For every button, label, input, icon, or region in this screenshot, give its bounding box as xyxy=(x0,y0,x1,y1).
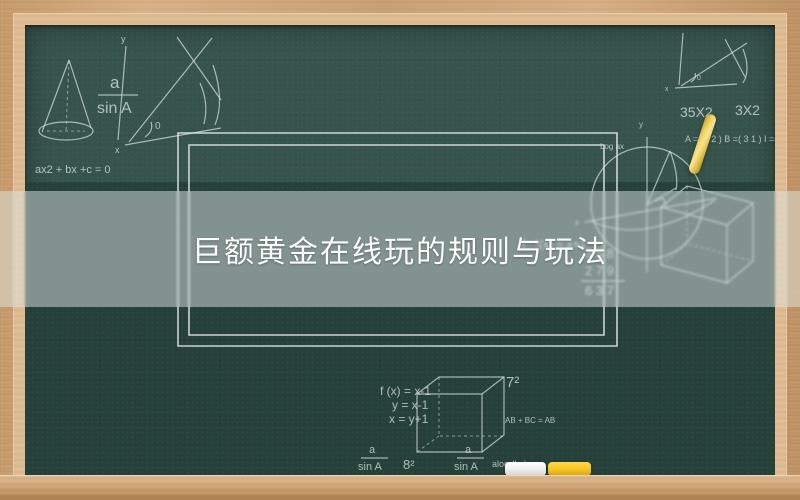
chalk-eight-squared: 8² xyxy=(403,457,415,472)
svg-text:sin A: sin A xyxy=(358,461,383,473)
svg-text:0: 0 xyxy=(697,75,701,82)
chalk-ledge xyxy=(0,475,800,500)
svg-text:y: y xyxy=(639,120,643,129)
svg-text:a: a xyxy=(369,444,376,456)
chalk-a-over-sinA-bottom-1: a sin A xyxy=(358,444,388,473)
svg-text:a: a xyxy=(465,444,472,456)
chalk-a-over-sinA-bottom-2: a sin A xyxy=(454,444,484,473)
title-banner: 巨额黄金在线玩的规则与玩法 xyxy=(0,191,800,307)
svg-text:x = y+1: x = y+1 xyxy=(389,412,429,426)
svg-text:y: y xyxy=(121,34,126,44)
svg-text:sin A: sin A xyxy=(97,100,132,117)
chalk-formula-a-over-sinA-top: a sin A xyxy=(97,73,138,117)
svg-text:sin A: sin A xyxy=(454,461,479,473)
chalk-formula-quadratic: ax2 + bx +c = 0 xyxy=(35,164,111,176)
svg-text:x: x xyxy=(115,145,120,155)
svg-text:0: 0 xyxy=(155,121,161,132)
chalk-log-ax: Log ax xyxy=(600,142,624,151)
chalk-mult-3x2: 3X2 xyxy=(735,102,760,118)
screenshot-root: a sin A ax2 + bx +c = 0 y x 0 xyxy=(0,0,800,500)
svg-text:f (x) = x-1: f (x) = x-1 xyxy=(380,384,431,398)
svg-text:x: x xyxy=(665,86,669,93)
svg-text:a: a xyxy=(110,73,120,92)
chalk-ab-bc-ab: AB + BC = AB xyxy=(505,416,555,425)
page-title: 巨额黄金在线玩的规则与玩法 xyxy=(192,227,608,271)
chalk-angle-diagram-right: x 0 xyxy=(665,33,747,93)
chalk-cone xyxy=(39,60,93,140)
ledge-yellow-chalk-icon xyxy=(548,462,591,476)
svg-text:y = x-1: y = x-1 xyxy=(392,398,429,412)
chalk-seven-squared: 7² xyxy=(506,374,519,391)
chalk-function-equations: f (x) = x-1 y = x-1 x = y+1 xyxy=(380,384,431,426)
board-eraser-icon xyxy=(505,462,546,476)
